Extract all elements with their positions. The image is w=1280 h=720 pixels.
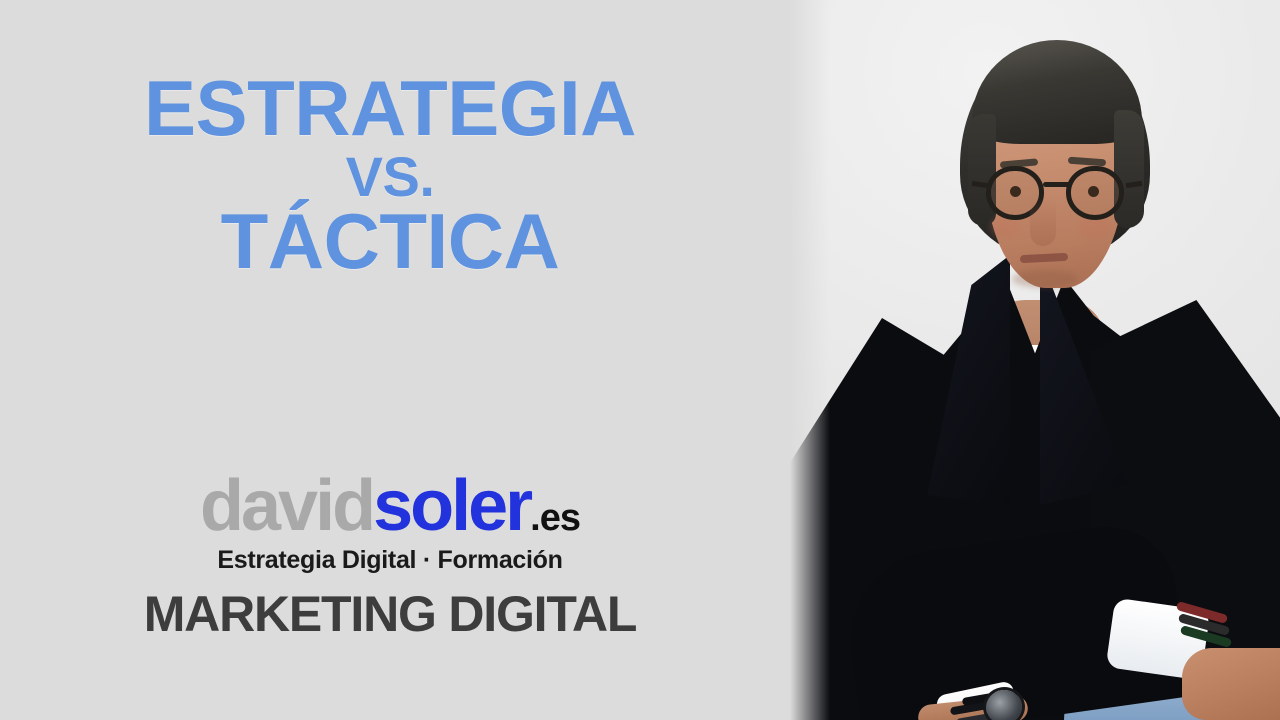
slide-title: ESTRATEGIA VS. TÁCTICA: [0, 72, 780, 277]
wordmark-soler: soler: [373, 466, 530, 546]
nose: [1030, 198, 1056, 246]
glasses-bridge: [1043, 182, 1070, 187]
eye-left: [1010, 186, 1021, 197]
presentation-slide: ESTRATEGIA VS. TÁCTICA davidsoler.es Est…: [0, 0, 1280, 720]
title-line-tactica: TÁCTICA: [0, 205, 780, 278]
brand-category: MARKETING DIGITAL: [0, 585, 780, 643]
portrait-photo: [790, 0, 1280, 720]
title-line-estrategia: ESTRATEGIA: [0, 72, 780, 145]
eye-right: [1088, 186, 1099, 197]
chin-shadow: [1012, 270, 1078, 288]
head: [968, 48, 1140, 318]
brand-tagline: Estrategia Digital · Formación: [0, 546, 780, 575]
wordmark-tld: .es: [530, 497, 580, 539]
photo-edge-blend: [790, 0, 830, 720]
brand-wordmark: davidsoler.es: [0, 470, 780, 542]
title-line-vs: VS.: [0, 151, 780, 203]
brand-logo[interactable]: davidsoler.es Estrategia Digital · Forma…: [0, 470, 780, 643]
wordmark-david: david: [200, 466, 373, 546]
hand-right: [1182, 648, 1280, 720]
eyeglasses-icon: [980, 166, 1132, 224]
